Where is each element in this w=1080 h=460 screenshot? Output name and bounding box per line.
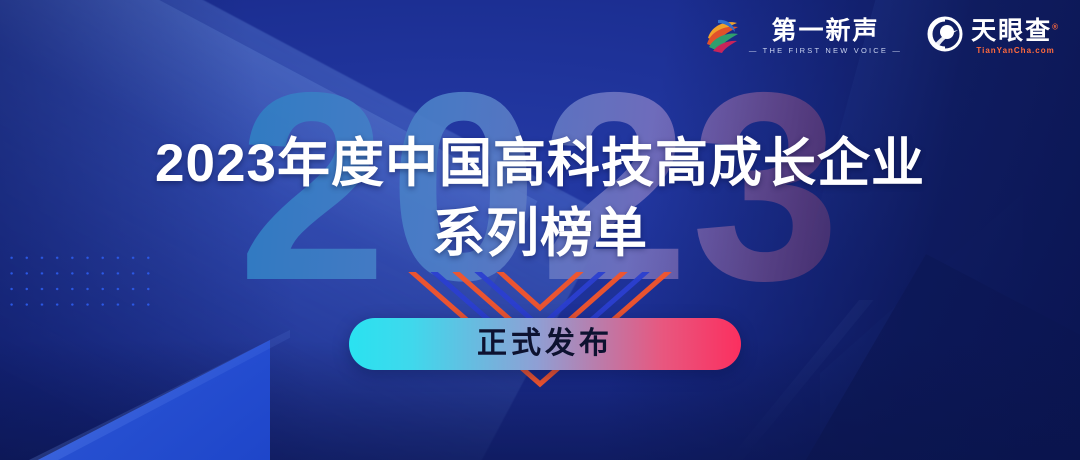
logo-tianyancha-tagline: TianYanCha.com bbox=[976, 46, 1054, 55]
logo-diyi-xinsheng[interactable]: 第一新声 — THE FIRST NEW VOICE — bbox=[702, 14, 902, 59]
release-status-label: 正式发布 bbox=[477, 329, 613, 359]
headline-line-1: 2023年度中国高科技高成长企业 bbox=[0, 134, 1080, 194]
ribbon-swirl-logo-icon bbox=[702, 14, 742, 59]
promo-banner: 2023 2023年度中国高科技高成长企业 系列榜单 正式发布 bbox=[0, 0, 1080, 460]
camera-aperture-eye-logo-icon bbox=[926, 15, 964, 58]
logo-tianyancha-name: 天眼查® bbox=[971, 18, 1060, 44]
logo-tianyancha-name-cn: 天眼查 bbox=[971, 17, 1052, 45]
logo-diyi-xinsheng-text: 第一新声 — THE FIRST NEW VOICE — bbox=[749, 18, 902, 55]
logo-tianyancha-text: 天眼查® TianYanCha.com bbox=[971, 18, 1060, 55]
banner-headline: 2023年度中国高科技高成长企业 系列榜单 bbox=[0, 134, 1080, 264]
registered-trademark-icon: ® bbox=[1052, 23, 1060, 32]
release-status-pill[interactable]: 正式发布 bbox=[349, 318, 741, 370]
logo-row: 第一新声 — THE FIRST NEW VOICE — 天眼查® TianYa… bbox=[702, 14, 1060, 59]
logo-tianyancha[interactable]: 天眼查® TianYanCha.com bbox=[926, 15, 1060, 58]
headline-line-2: 系列榜单 bbox=[0, 204, 1080, 264]
logo-diyi-xinsheng-name: 第一新声 bbox=[771, 18, 879, 44]
logo-diyi-xinsheng-tagline: — THE FIRST NEW VOICE — bbox=[749, 46, 902, 55]
